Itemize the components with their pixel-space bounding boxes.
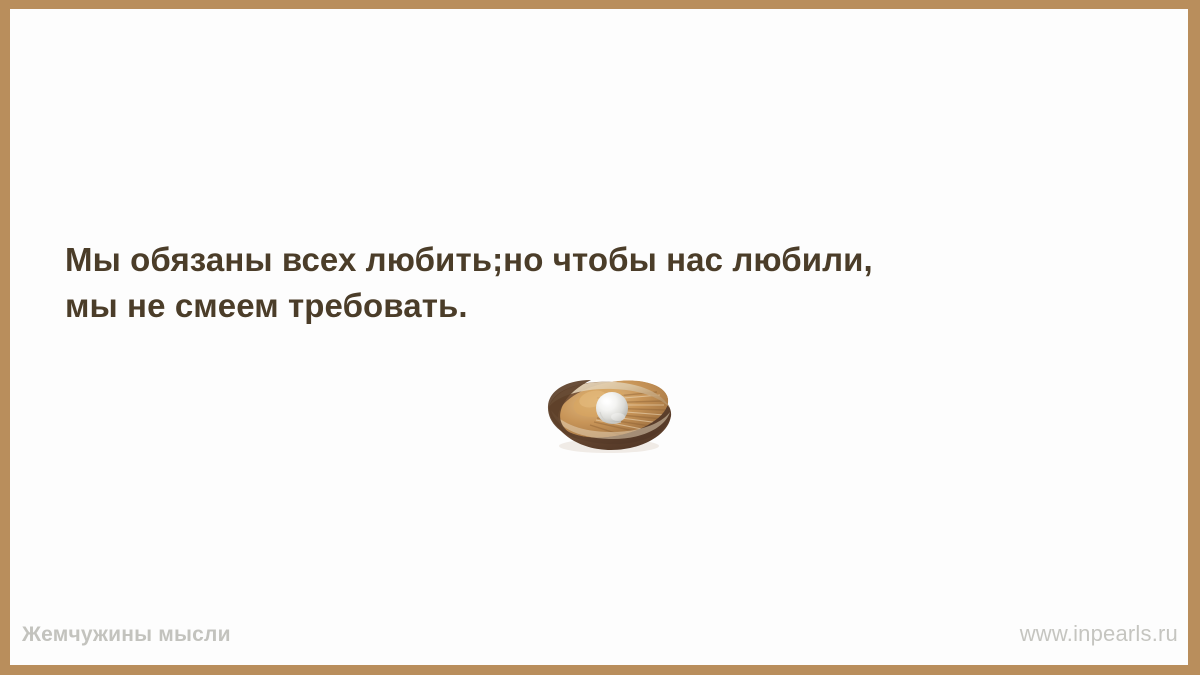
- quote-text: Мы обязаны всех любить;но чтобы нас люби…: [65, 237, 1140, 329]
- card-canvas: Мы обязаны всех любить;но чтобы нас люби…: [10, 9, 1188, 665]
- brand-label: Жемчужины мысли: [22, 623, 231, 647]
- quote-card: Мы обязаны всех любить;но чтобы нас люби…: [0, 0, 1200, 675]
- oyster-shell-with-pearl-icon: [539, 372, 681, 456]
- site-url-label[interactable]: www.inpearls.ru: [1020, 621, 1178, 647]
- quote-block: Мы обязаны всех любить;но чтобы нас люби…: [65, 237, 1140, 329]
